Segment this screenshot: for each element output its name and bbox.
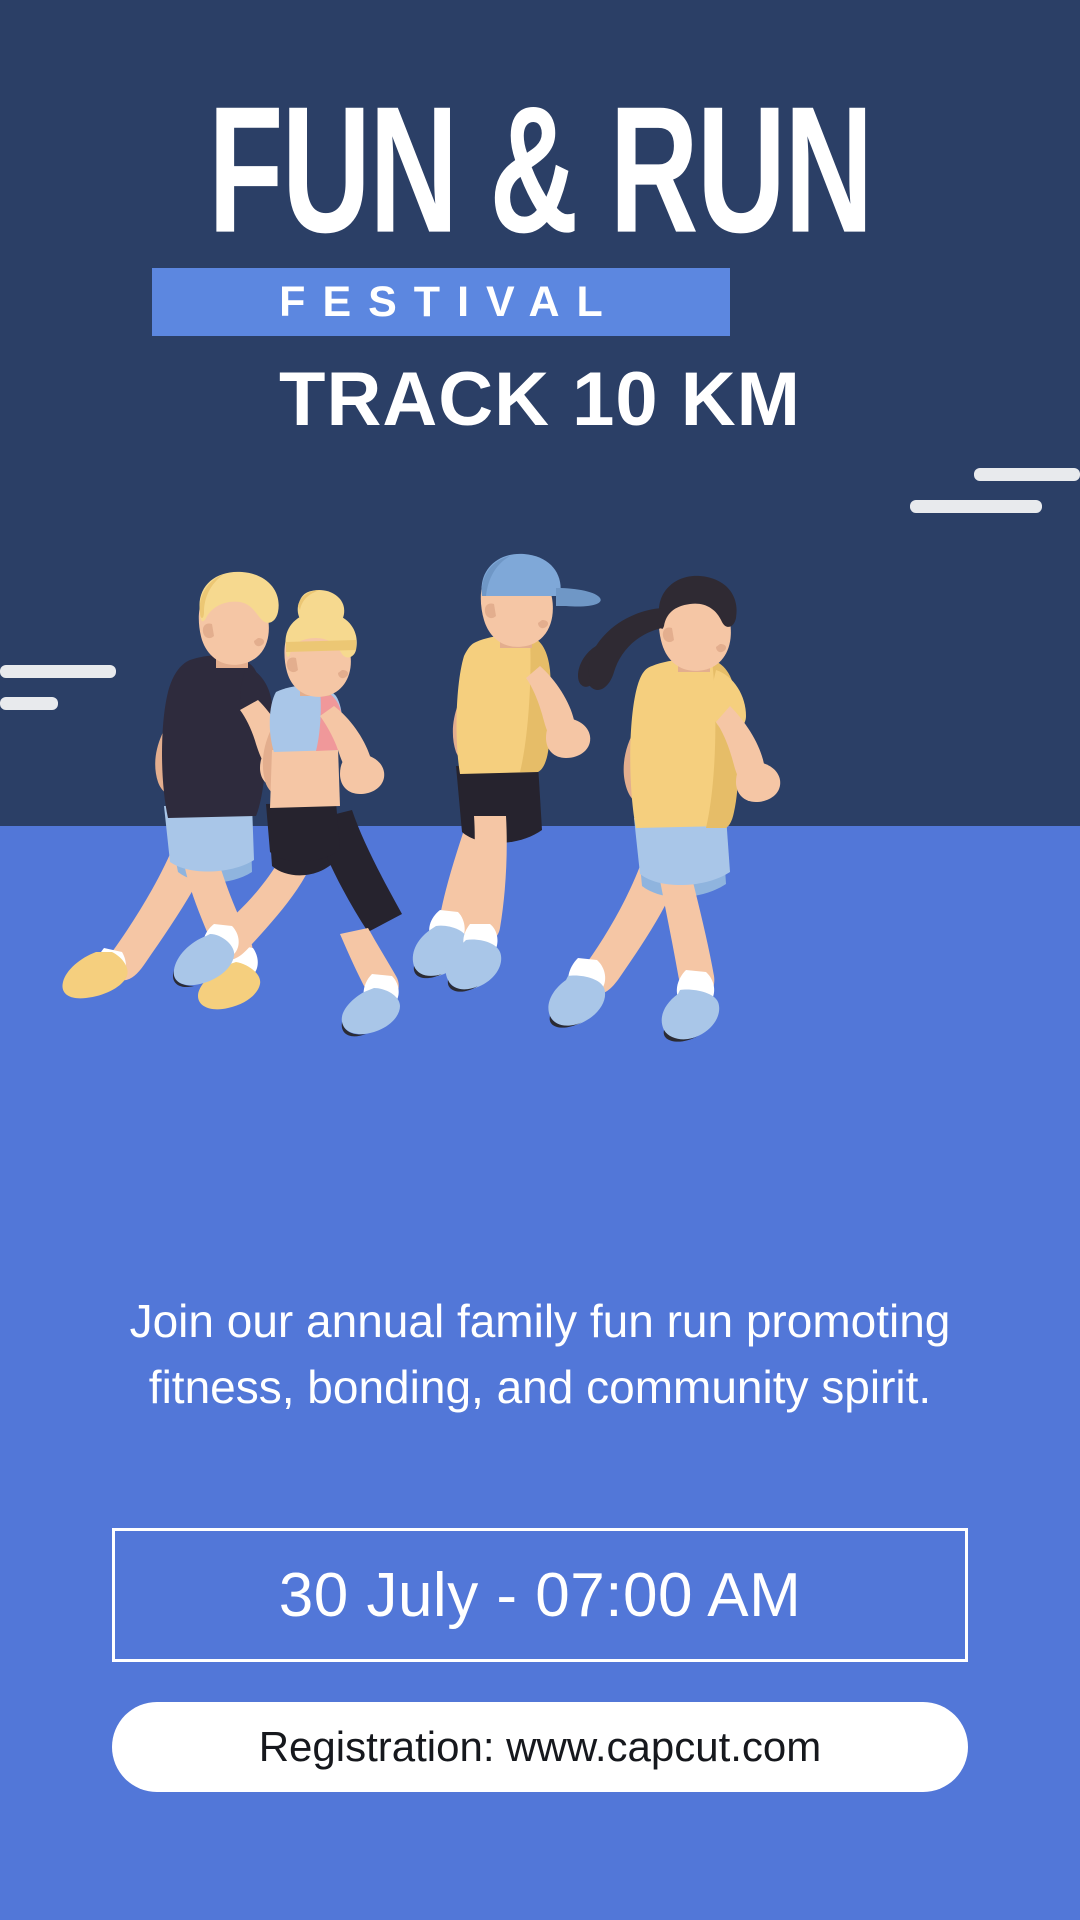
page-title: FUN & RUN: [119, 80, 961, 260]
runner-4: [548, 576, 780, 1042]
date-time-box: 30 July - 07:00 AM: [112, 1528, 968, 1662]
four-runners-illustration: .skin{fill:#f5c6a5} .skinD{fill:#e3ae8e}…: [0, 500, 1080, 1060]
festival-label: FESTIVAL: [262, 268, 620, 336]
poster-root: FUN & RUN FESTIVAL TRACK 10 KM .skin{fil…: [0, 0, 1080, 1920]
track-distance-label: TRACK 10 KM: [0, 356, 1080, 443]
date-time-label: 30 July - 07:00 AM: [279, 1560, 802, 1631]
registration-button[interactable]: Registration: www.capcut.com: [112, 1702, 968, 1792]
event-description: Join our annual family fun run promoting…: [90, 1288, 990, 1420]
festival-banner: FESTIVAL: [152, 268, 730, 336]
speed-line-right-1: [974, 468, 1080, 481]
registration-label: Registration: www.capcut.com: [259, 1723, 822, 1771]
runner-1: [62, 572, 302, 1010]
runner-3: [413, 554, 601, 992]
